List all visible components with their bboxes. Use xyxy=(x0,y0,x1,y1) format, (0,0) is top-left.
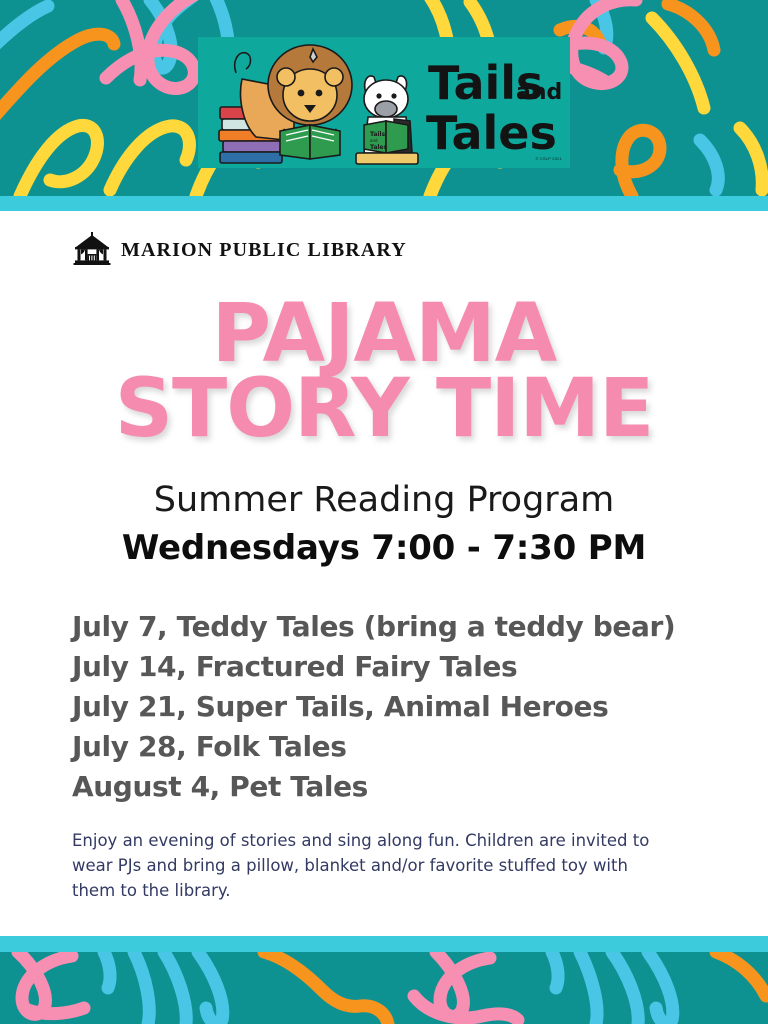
banner-title-line-2: Tales xyxy=(426,106,557,160)
squiggle-pattern-bottom xyxy=(0,952,768,1024)
page-title-line-2: STORY TIME xyxy=(0,372,768,447)
decorative-band-top: Tails and Tales Tails and Tales © CSLP 2… xyxy=(0,0,768,196)
library-name: MARION PUBLIC LIBRARY xyxy=(121,239,407,262)
list-item: July 7, Teddy Tales (bring a teddy bear) xyxy=(72,607,732,647)
library-logo: MARION PUBLIC LIBRARY xyxy=(72,231,407,269)
gazebo-icon xyxy=(72,231,112,269)
book-label-line-2: Tales xyxy=(370,144,387,151)
list-item: July 21, Super Tails, Animal Heroes xyxy=(72,687,732,727)
book-label-line-1: Tails xyxy=(370,131,385,138)
page-title-line-1: PAJAMA xyxy=(0,297,768,372)
dog-green-book-icon: Tails and Tales xyxy=(364,121,408,153)
cyan-stripe-bottom xyxy=(0,936,768,952)
banner-title-small: and xyxy=(516,80,562,105)
program-subtitle: Summer Reading Program xyxy=(0,480,768,520)
decorative-band-bottom xyxy=(0,952,768,1024)
poster-root: Tails and Tales Tails and Tales © CSLP 2… xyxy=(0,0,768,1024)
pedestal-icon xyxy=(356,153,418,164)
list-item: August 4, Pet Tales xyxy=(72,767,732,807)
schedule-time: Wednesdays 7:00 - 7:30 PM xyxy=(0,528,768,568)
tails-and-tales-artwork: Tails and Tales Tails and Tales xyxy=(198,37,570,168)
banner-copyright: © CSLP 2021 xyxy=(535,156,562,161)
green-book-icon xyxy=(280,125,340,159)
book-label-small: and xyxy=(370,138,378,143)
list-item: July 28, Folk Tales xyxy=(72,727,732,767)
cyan-stripe-top xyxy=(0,196,768,211)
description-paragraph: Enjoy an evening of stories and sing alo… xyxy=(72,828,662,903)
page-title: PAJAMA STORY TIME xyxy=(0,297,768,448)
schedule-list: July 7, Teddy Tales (bring a teddy bear)… xyxy=(72,607,732,807)
list-item: July 14, Fractured Fairy Tales xyxy=(72,647,732,687)
tails-and-tales-banner: Tails and Tales Tails and Tales © CSLP 2… xyxy=(198,37,570,168)
